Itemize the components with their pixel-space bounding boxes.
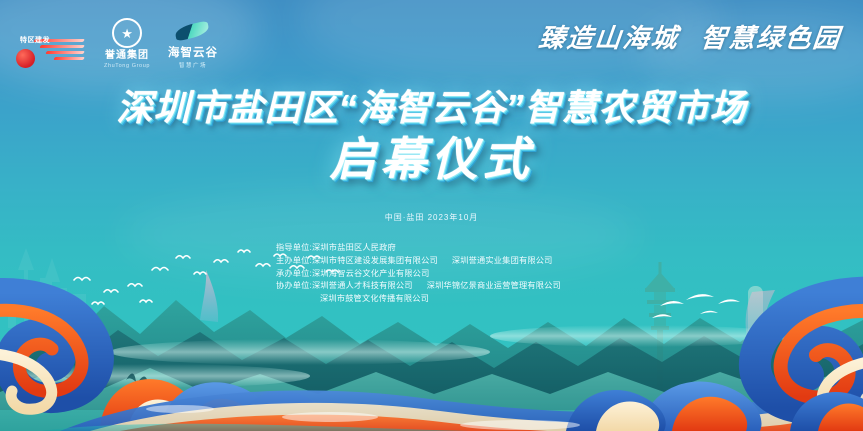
wave-foam <box>146 405 580 430</box>
pagoda <box>645 262 675 390</box>
organizer-label: 主办单位: <box>276 256 312 265</box>
mist-band <box>490 325 790 347</box>
event-date: 中国·盐田 2023年10月 <box>0 212 863 223</box>
organizer-row: 指导单位:深圳市盐田区人民政府 <box>276 242 561 255</box>
organizer-row: 承办单位:深圳海智云谷文化产业有限公司 <box>276 268 561 281</box>
organizer-entry: 深圳华锦亿景商业运营管理有限公司 <box>427 281 561 290</box>
landmark-tower <box>748 286 763 392</box>
bird-flock-right <box>652 294 740 318</box>
organizer-label: 指导单位: <box>276 243 312 252</box>
organizer-entry: 深圳誉通人才科技有限公司 <box>312 281 413 290</box>
title-line-2: 启幕仪式 <box>0 134 863 185</box>
light-beam <box>746 290 775 372</box>
logo-yutong: ★ 誉通集团 ZhuTong Group <box>104 18 150 69</box>
mountain-range-mid <box>0 330 863 410</box>
organizer-entry: 深圳誉通实业集团有限公司 <box>452 256 553 265</box>
organizer-list: 指导单位:深圳市盐田区人民政府主办单位:深圳市特区建设发展集团有限公司深圳誉通实… <box>276 242 561 306</box>
organizer-entry: 深圳海智云谷文化产业有限公司 <box>312 269 429 278</box>
ghost-skyline <box>8 248 86 328</box>
slogan-right: 智慧绿色园 <box>699 18 843 55</box>
logo-haizhiyungu-name: 海智云谷 <box>168 44 218 60</box>
organizer-entry: 深圳市特区建设发展集团有限公司 <box>312 256 438 265</box>
wave-banner-center <box>40 373 863 431</box>
poster-title: 深圳市盐田区“海智云谷”智慧农贸市场 启幕仪式 <box>0 88 863 185</box>
mountain-range-far <box>0 300 863 400</box>
wave-cluster-left-mid <box>100 379 327 431</box>
light-beam <box>200 270 218 322</box>
logo-yutong-sub: ZhuTong Group <box>104 63 150 69</box>
poster-stage: 特区建发 ★ 誉通集团 ZhuTong Group 海智云谷 智慧广场 臻造山海… <box>0 0 863 431</box>
logo-haizhiyungu-sub: 智慧广场 <box>179 61 207 69</box>
logo-yutong-name: 誉通集团 <box>105 51 149 62</box>
title-line-1: 深圳市盐田区“海智云谷”智慧农贸市场 <box>0 88 863 128</box>
organizer-entry: 深圳市鼓管文化传播有限公司 <box>320 294 429 303</box>
logo-haizhiyungu: 海智云谷 智慧广场 <box>168 21 218 69</box>
organizer-row: 深圳市鼓管文化传播有限公司 <box>276 293 561 306</box>
star-circle-icon: ★ <box>112 18 142 48</box>
logo-mark-text: 特区建发 <box>20 35 50 45</box>
shore-detail <box>126 373 148 384</box>
mist-band <box>110 339 490 365</box>
wave-spiral-right <box>755 292 863 415</box>
organizer-row: 协办单位:深圳誉通人才科技有限公司深圳华锦亿景商业运营管理有限公司 <box>276 280 561 293</box>
wave-cluster-right-mid <box>566 382 761 431</box>
slogan: 臻造山海城 智慧绿色园 <box>537 18 843 55</box>
swoosh-icon <box>173 21 213 43</box>
organizer-label: 协办单位: <box>276 281 312 290</box>
organizer-entry: 深圳市盐田区人民政府 <box>312 243 396 252</box>
logo-row: 特区建发 ★ 誉通集团 ZhuTong Group 海智云谷 智慧广场 <box>14 18 218 69</box>
organizer-row: 主办单位:深圳市特区建设发展集团有限公司深圳誉通实业集团有限公司 <box>276 255 561 268</box>
organizer-label: 承办单位: <box>276 269 312 278</box>
speed-wing-icon: 特区建发 <box>14 35 86 69</box>
mist-band <box>0 364 310 388</box>
wave-cluster-far-right <box>790 392 863 431</box>
logo-shentegroup: 特区建发 <box>14 35 86 69</box>
mountain-range-near <box>0 368 863 431</box>
slogan-left: 臻造山海城 <box>537 18 681 55</box>
wave-spiral-left <box>0 293 99 409</box>
